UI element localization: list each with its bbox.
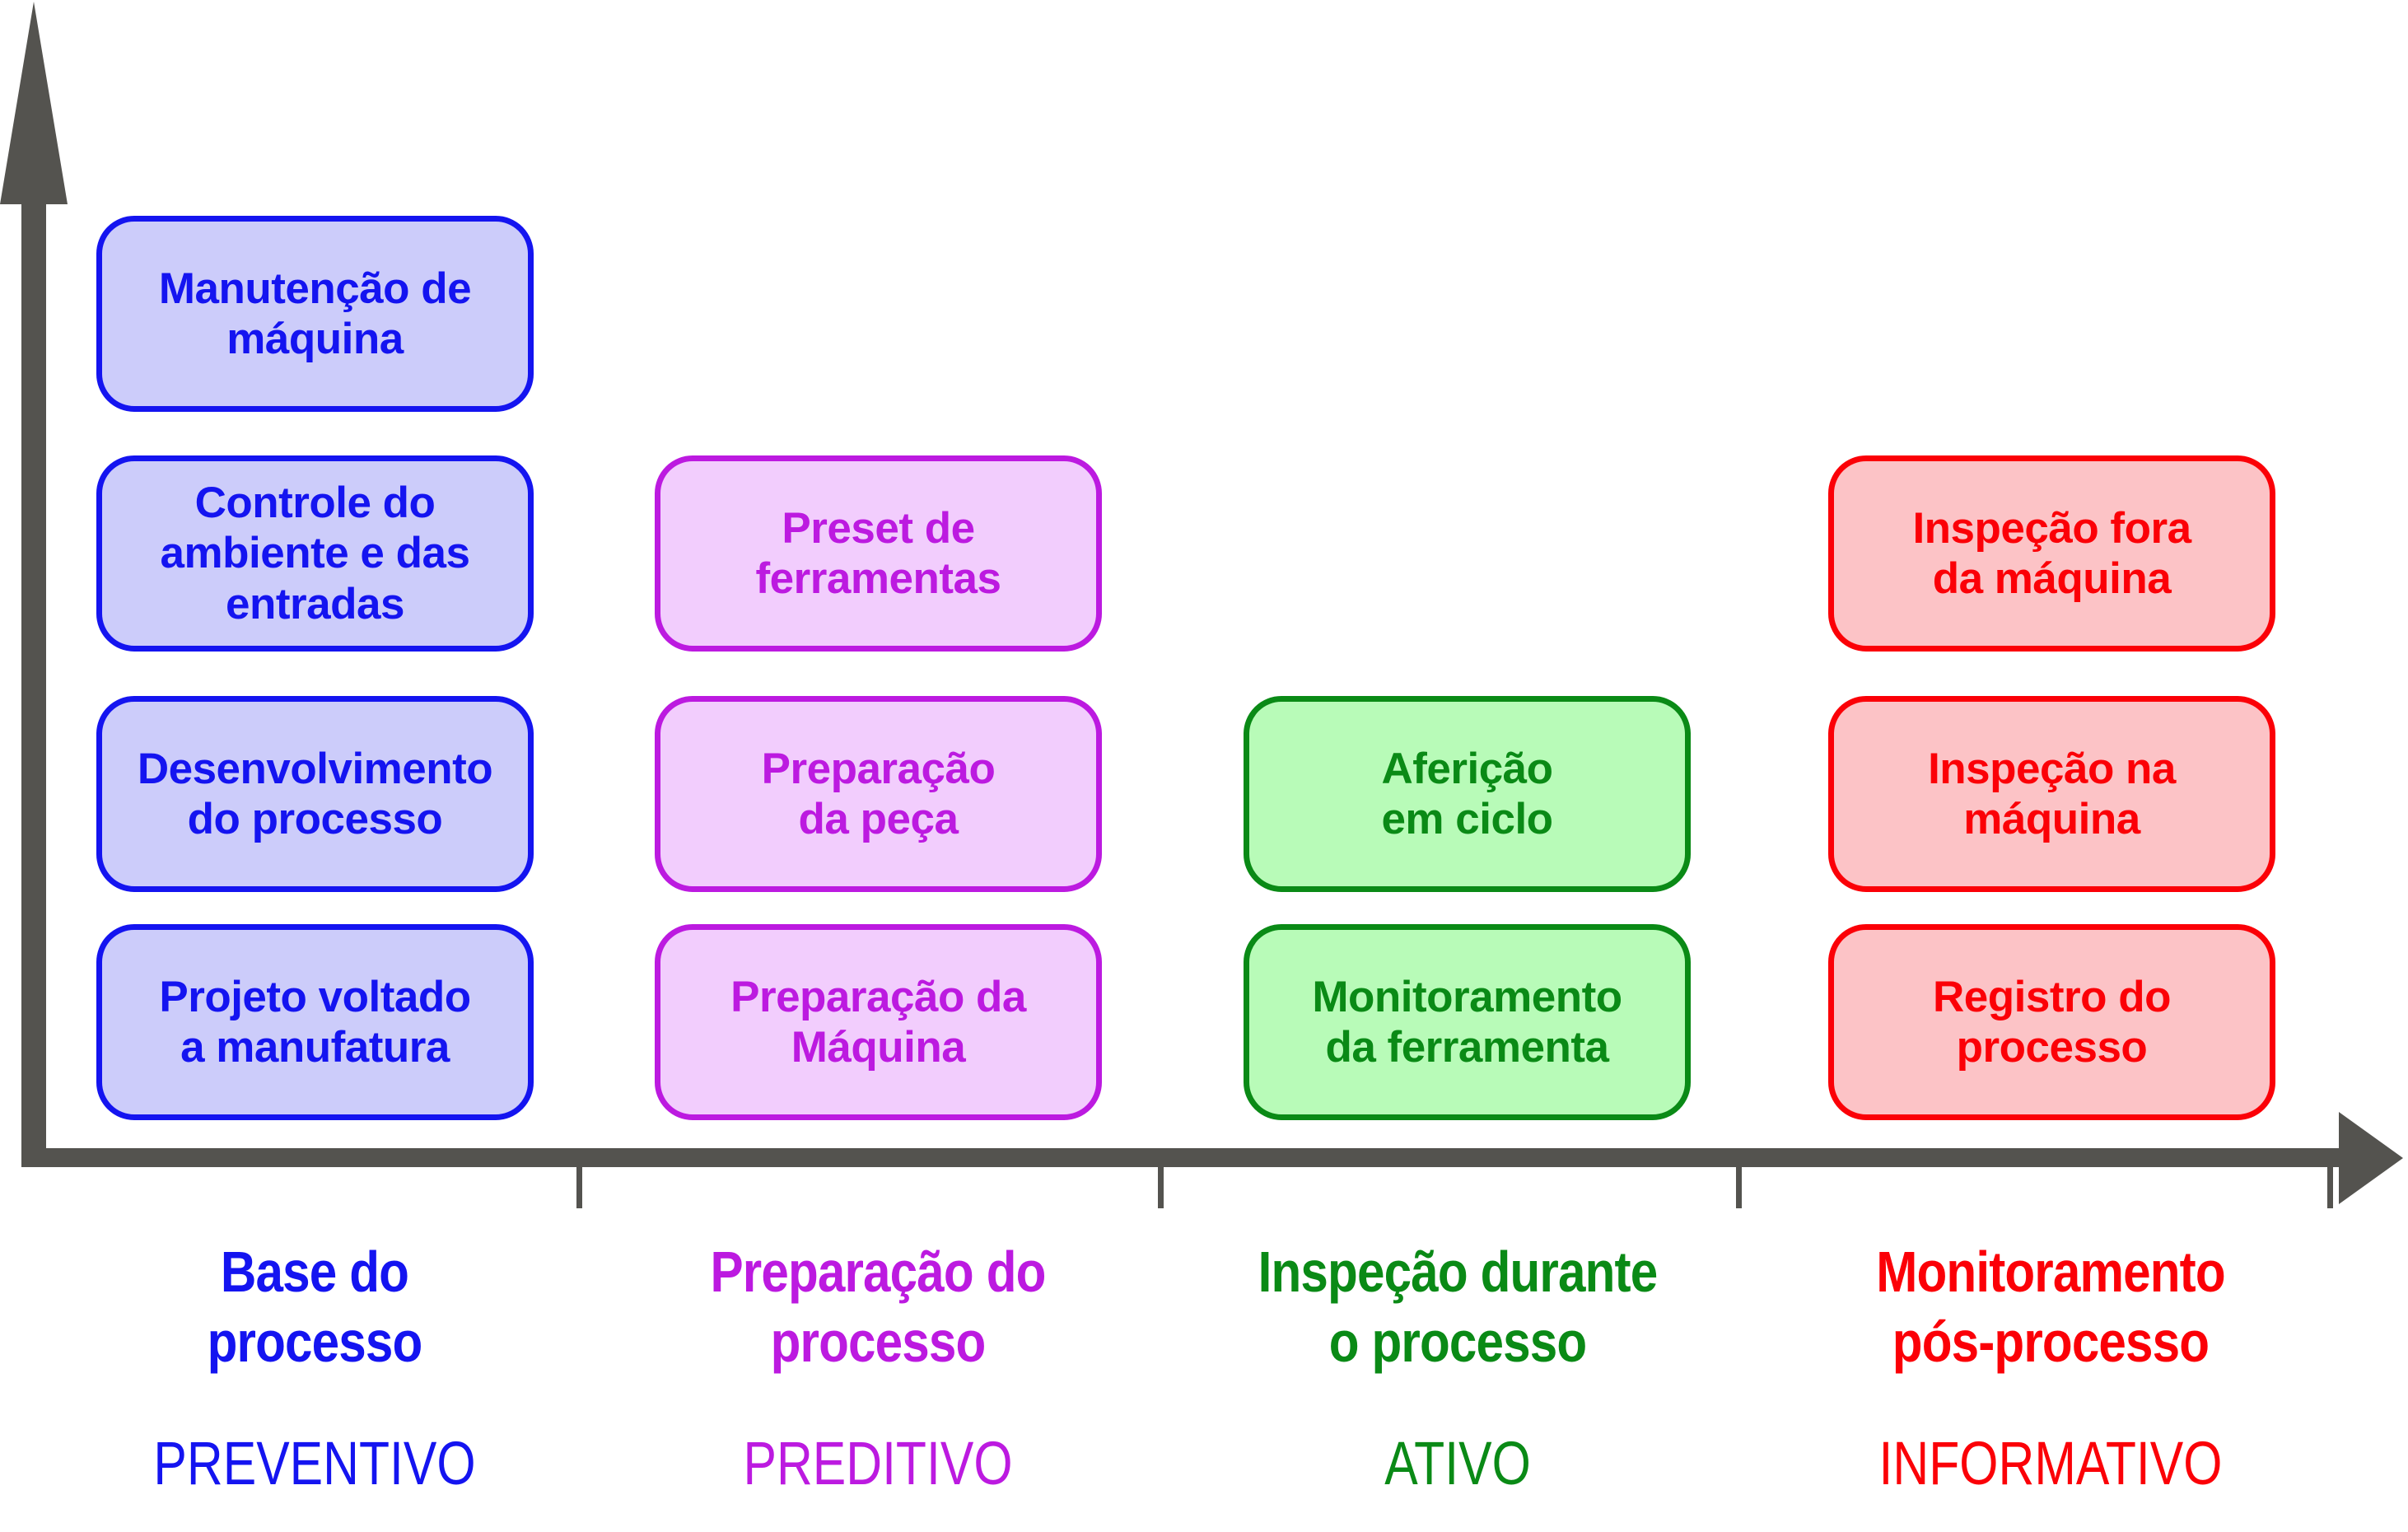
category-label-inspecao-durante-o-processo: Inspeção duranteo processo — [1245, 1237, 1670, 1378]
diagram-canvas: Manutenção demáquina Controle doambiente… — [0, 0, 2408, 1532]
category-label-preparacao-do-processo: Preparação doprocesso — [665, 1237, 1090, 1378]
kind-label-preditivo: PREDITIVO — [675, 1433, 1080, 1494]
node-manutencao-de-maquina[interactable]: Manutenção demáquina — [96, 216, 534, 412]
node-preparacao-da-peca[interactable]: Preparaçãoda peça — [655, 696, 1102, 892]
axis-tick-1 — [576, 1167, 582, 1208]
node-controle-do-ambiente-e-das-entradas[interactable]: Controle doambiente e dasentradas — [96, 455, 534, 652]
axis-tick-4 — [2327, 1167, 2333, 1208]
node-afericao-em-ciclo[interactable]: Aferiçãoem ciclo — [1244, 696, 1691, 892]
node-preparacao-da-maquina[interactable]: Preparação daMáquina — [655, 924, 1102, 1120]
node-label: Manutenção demáquina — [159, 264, 471, 365]
node-label: Controle doambiente e dasentradas — [161, 478, 470, 629]
category-label-monitoramento-pos-processo: Monitoramentopós-processo — [1838, 1237, 2263, 1378]
node-label: Desenvolvimentodo processo — [138, 744, 492, 845]
node-label: Projeto voltadoa manufatura — [159, 972, 470, 1073]
axis-tick-2 — [1158, 1167, 1164, 1208]
vertical-axis-arrow — [0, 2, 68, 1167]
node-inspecao-fora-da-maquina[interactable]: Inspeção forada máquina — [1828, 455, 2275, 652]
node-label: Preparação daMáquina — [730, 972, 1026, 1073]
node-inspecao-na-maquina[interactable]: Inspeção namáquina — [1828, 696, 2275, 892]
node-label: Aferiçãoem ciclo — [1381, 744, 1552, 845]
axis-tick-3 — [1736, 1167, 1742, 1208]
node-label: Inspeção forada máquina — [1912, 503, 2191, 605]
kind-label-informativo: INFORMATIVO — [1848, 1433, 2253, 1494]
node-desenvolvimento-do-processo[interactable]: Desenvolvimentodo processo — [96, 696, 534, 892]
category-label-base-do-processo: Base doprocesso — [102, 1237, 527, 1378]
node-preset-de-ferramentas[interactable]: Preset deferramentas — [655, 455, 1102, 652]
kind-label-preventivo: PREVENTIVO — [112, 1433, 517, 1494]
node-monitoramento-da-ferramenta[interactable]: Monitoramentoda ferramenta — [1244, 924, 1691, 1120]
node-label: Preset deferramentas — [756, 503, 1001, 605]
kind-label-ativo: ATIVO — [1255, 1433, 1660, 1494]
horizontal-axis-arrow — [21, 1112, 2403, 1204]
node-registro-do-processo[interactable]: Registro doprocesso — [1828, 924, 2275, 1120]
node-label: Registro doprocesso — [1933, 972, 2171, 1073]
node-label: Preparaçãoda peça — [762, 744, 996, 845]
node-label: Monitoramentoda ferramenta — [1312, 972, 1622, 1073]
node-projeto-voltado-a-manufatura[interactable]: Projeto voltadoa manufatura — [96, 924, 534, 1120]
node-label: Inspeção namáquina — [1928, 744, 2176, 845]
